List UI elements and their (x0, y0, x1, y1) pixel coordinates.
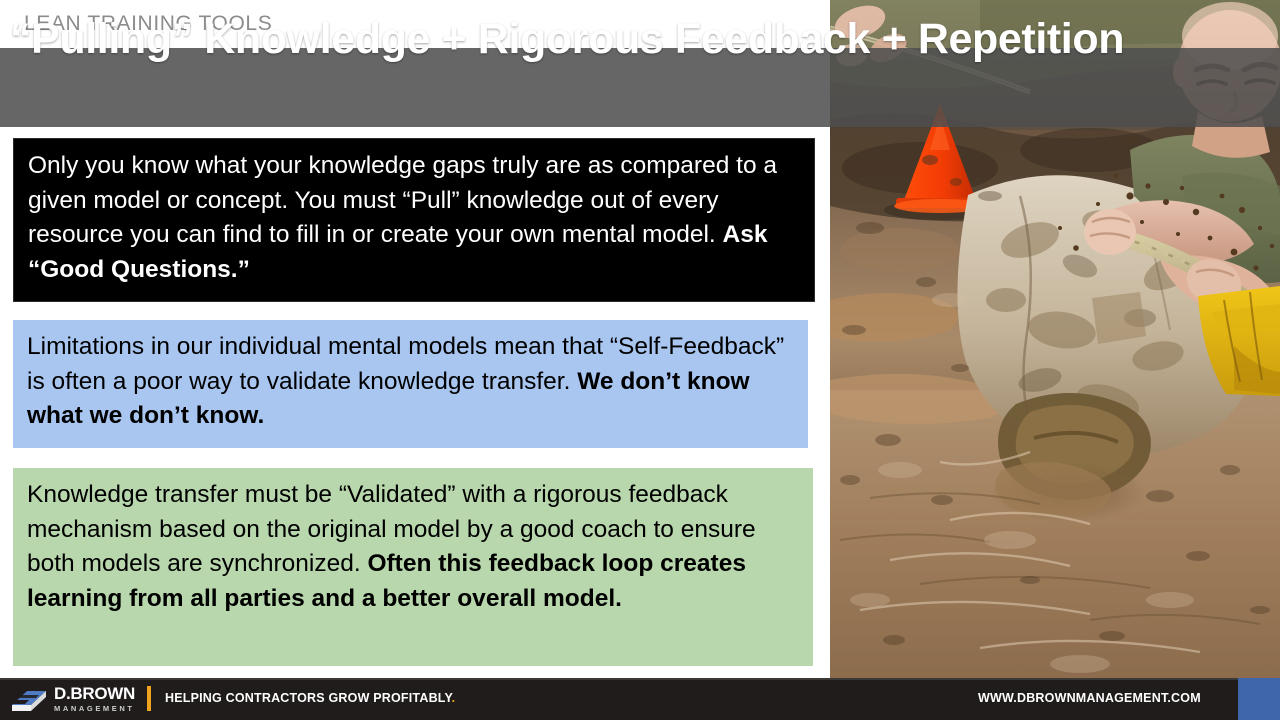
dbrown-logo-subtitle: MANAGEMENT (54, 703, 135, 714)
knowledge-gaps-body: Only you know what your knowledge gaps t… (28, 152, 777, 248)
footer-tagline-period: . (452, 691, 456, 705)
footer-top-rule (0, 678, 1280, 680)
dbrown-wordmark[interactable]: D.BROWN MANAGEMENT (54, 685, 135, 714)
footer-website-url[interactable]: WWW.DBROWNMANAGEMENT.COM (978, 691, 1201, 705)
self-feedback-box: Limitations in our individual mental mod… (13, 320, 808, 448)
footer-tagline: HELPING CONTRACTORS GROW PROFITABLY. (165, 691, 455, 705)
validated-transfer-box: Knowledge transfer must be “Validated” w… (13, 468, 813, 666)
dbrown-logo-name: D.BROWN (54, 685, 135, 702)
footer-divider (147, 686, 151, 711)
slide-title: “Pulling” Knowledge + Rigorous Feedback … (10, 5, 1274, 73)
footer-tagline-text: HELPING CONTRACTORS GROW PROFITABLY (165, 691, 452, 705)
footer-bar: D.BROWN MANAGEMENT HELPING CONTRACTORS G… (0, 678, 1280, 720)
footer-blue-block (1238, 678, 1280, 720)
dbrown-logo-icon[interactable] (9, 687, 49, 713)
knowledge-gaps-box: Only you know what your knowledge gaps t… (13, 138, 815, 302)
dbrown-logo-glyph (9, 687, 49, 713)
